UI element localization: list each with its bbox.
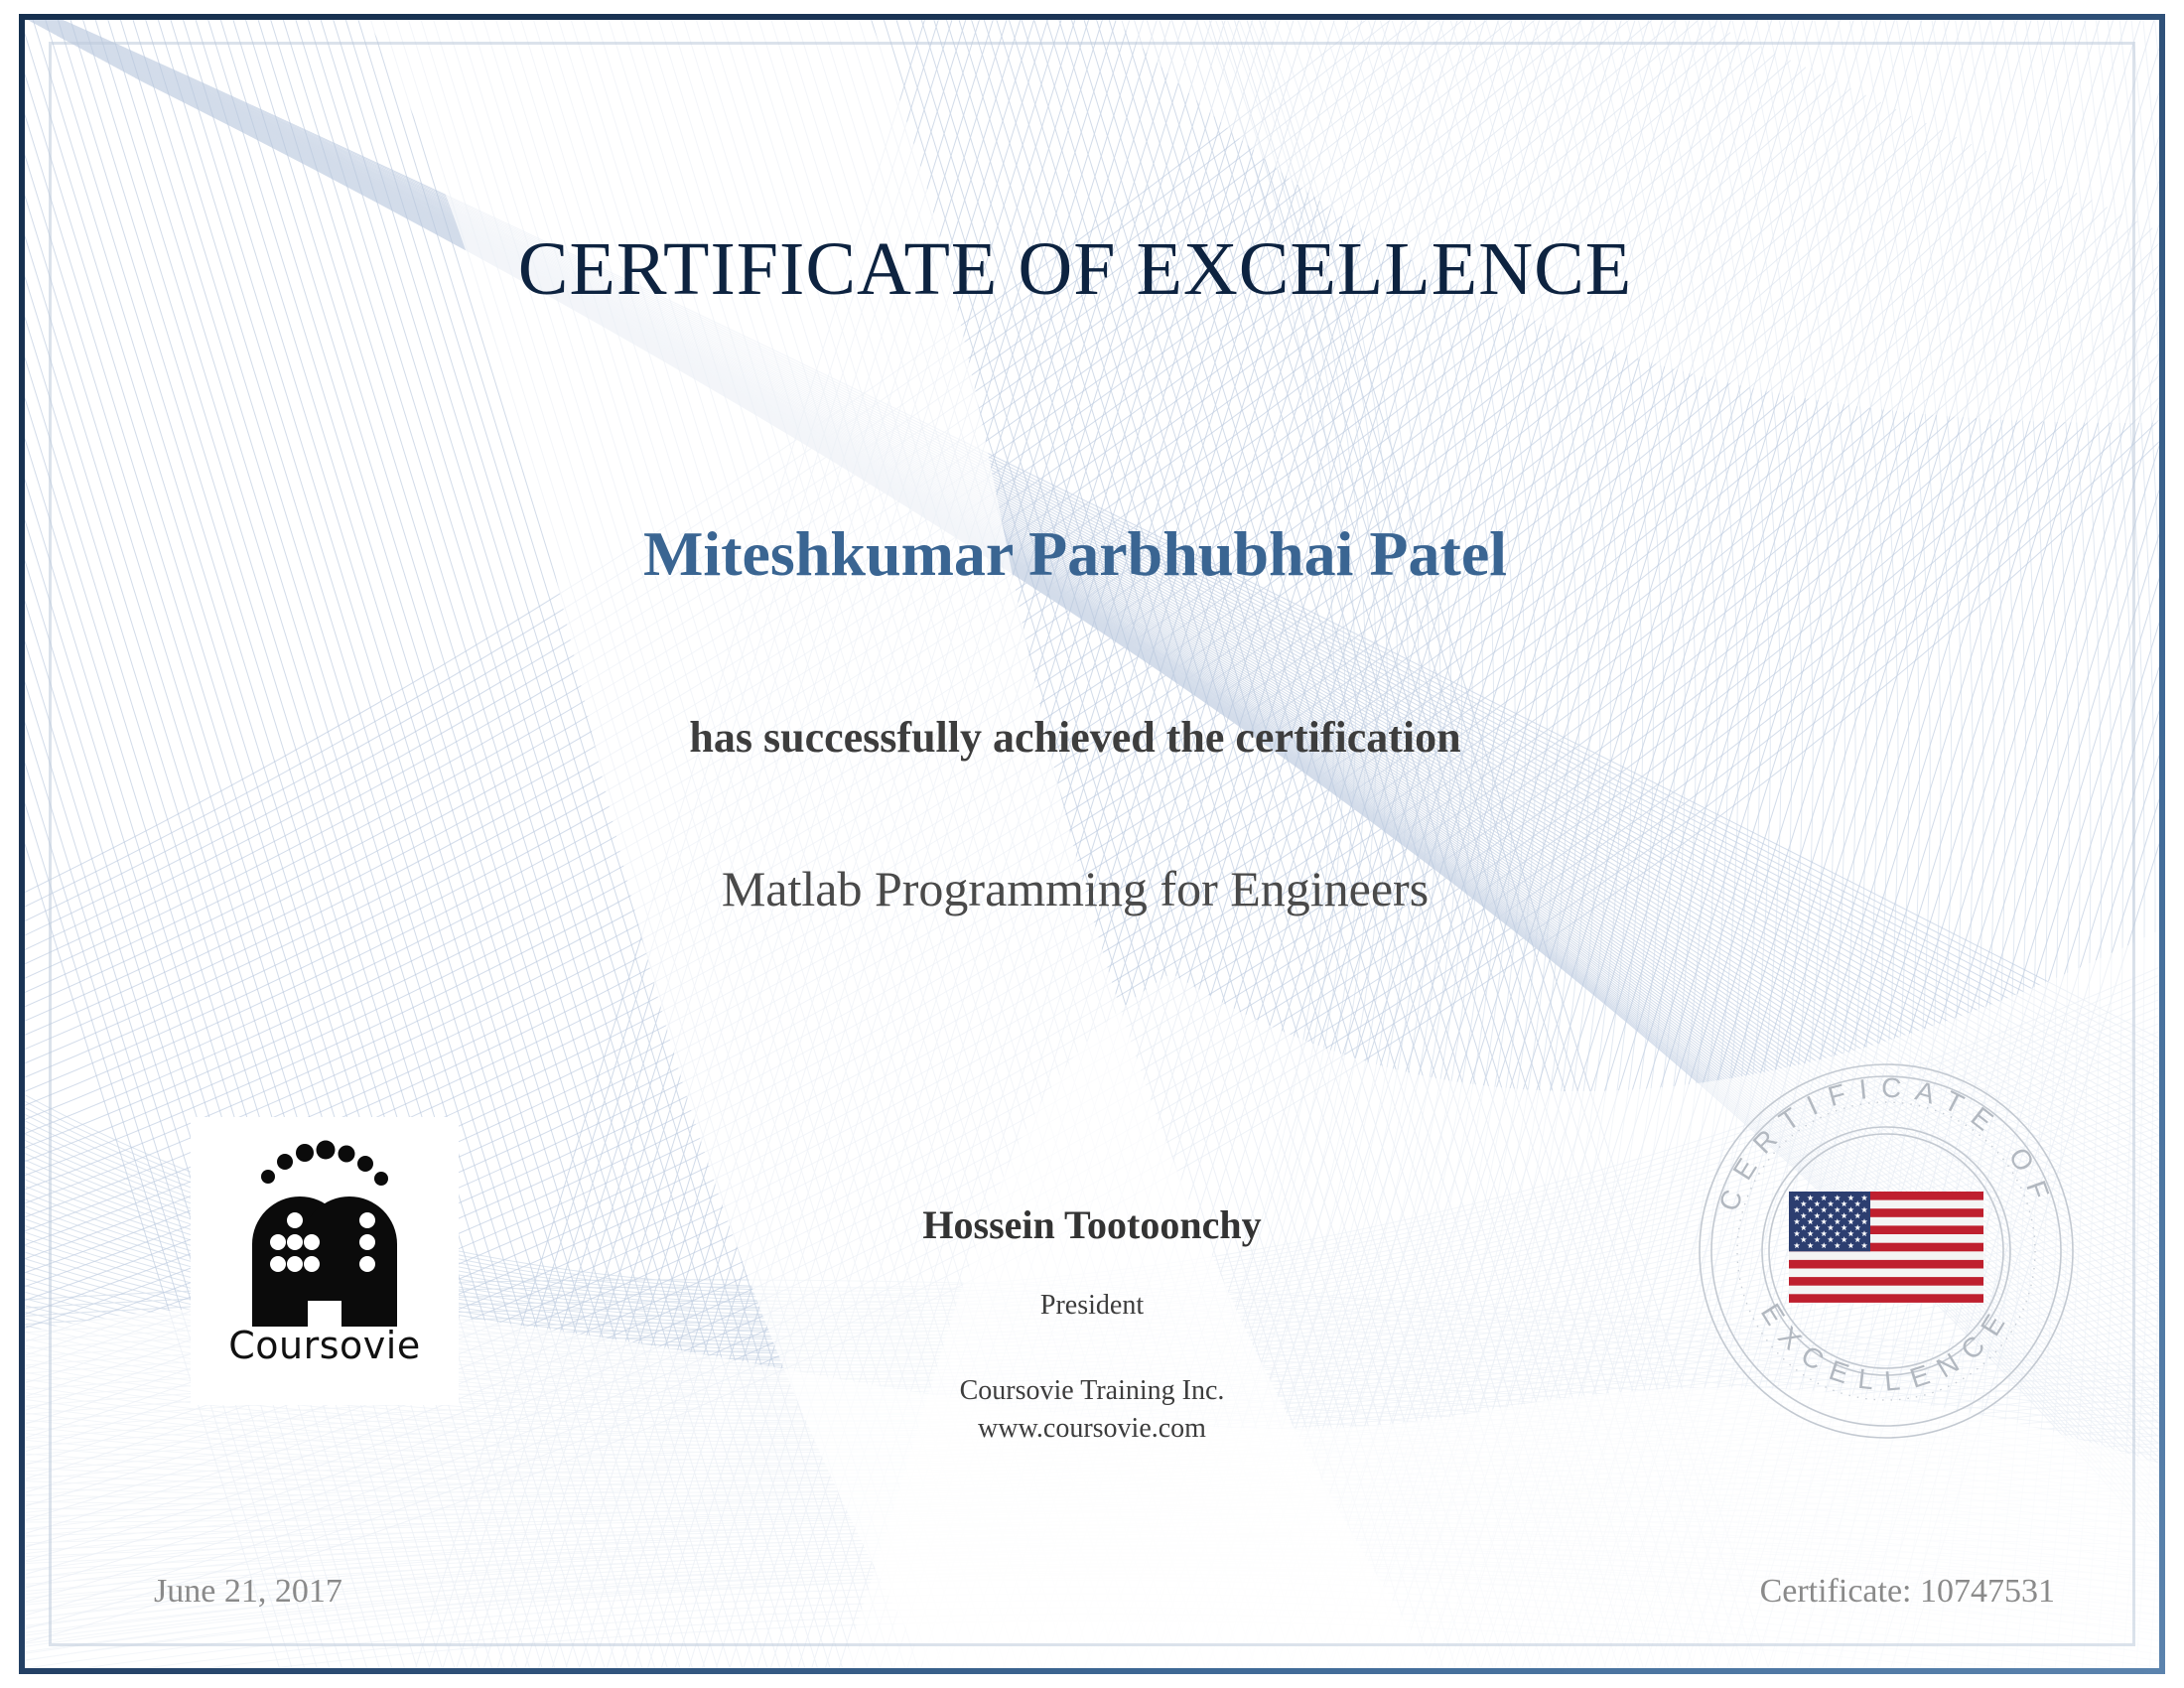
recipient-name: Miteshkumar Parbhubhai Patel xyxy=(0,517,2167,591)
organization-website: www.coursovie.com xyxy=(784,1413,1400,1445)
certificate-number: Certificate: 10747531 xyxy=(1760,1573,2055,1611)
us-flag-icon xyxy=(1789,1192,1983,1303)
coursovie-logo: Coursovie xyxy=(191,1117,459,1405)
two-heads-knowledge-transfer-icon xyxy=(191,1117,459,1331)
issue-date: June 21, 2017 xyxy=(154,1573,342,1611)
seal-bottom-text: EXCELLENCE xyxy=(1755,1298,2018,1396)
organization-name: Coursovie Training Inc. xyxy=(784,1375,1400,1407)
page-title: CERTIFICATE OF EXCELLENCE xyxy=(0,226,2167,313)
excellence-seal: CERTIFICATE OF EXCELLENCE xyxy=(1693,1057,2080,1445)
logo-wordmark: Coursovie xyxy=(191,1324,459,1367)
signature-block: Hossein Tootoonchy President Coursovie T… xyxy=(784,1201,1400,1445)
signer-title: President xyxy=(784,1290,1400,1322)
signer-name: Hossein Tootoonchy xyxy=(784,1201,1400,1248)
certificate-document: CERTIFICATE OF EXCELLENCE Miteshkumar Pa… xyxy=(0,0,2184,1688)
course-title: Matlab Programming for Engineers xyxy=(0,860,2167,917)
achievement-statement: has successfully achieved the certificat… xyxy=(0,712,2167,763)
